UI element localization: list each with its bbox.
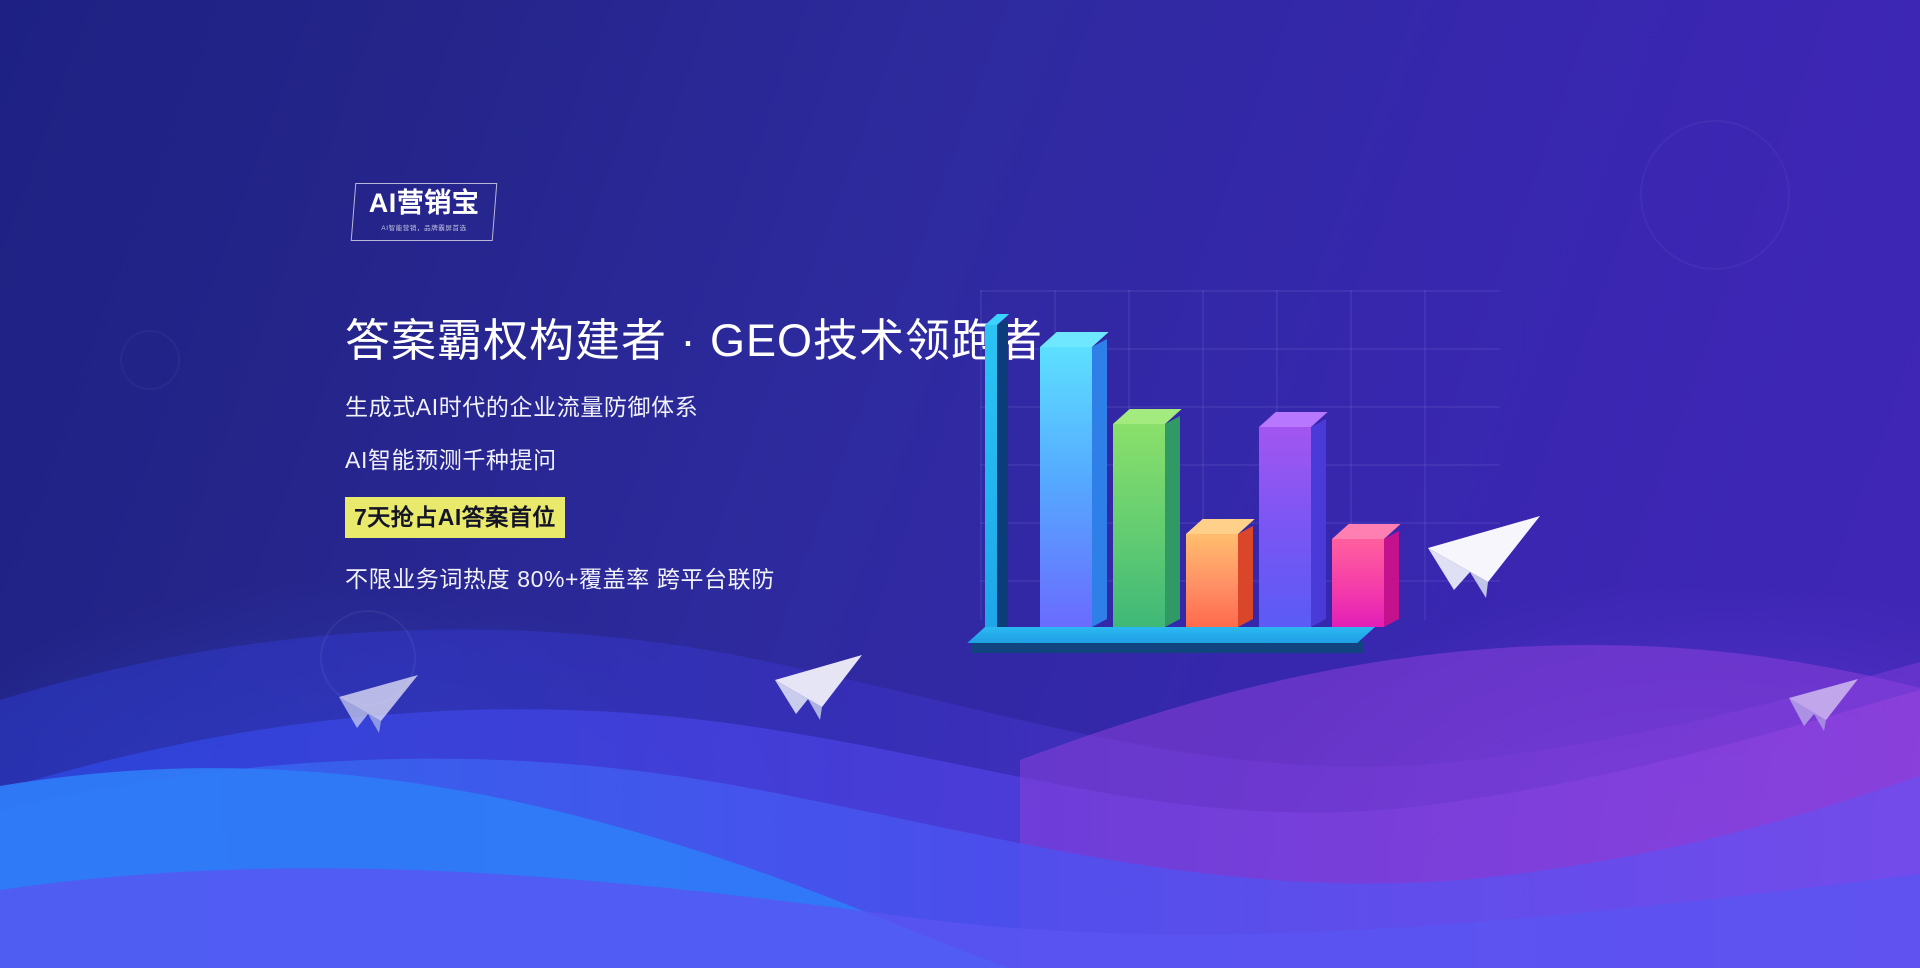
brand-logo[interactable]: AI营销宝 AI智能营销，品牌霸屏首选 (353, 183, 495, 241)
hero-subtitle-2: AI智能预测千种提问 (345, 445, 1065, 475)
hero-banner: AI营销宝 AI智能营销，品牌霸屏首选 答案霸权构建者 · GEO技术领跑者 生… (0, 0, 1920, 968)
hero-highlight-badge: 7天抢占AI答案首位 (345, 497, 565, 538)
paper-plane-icon (772, 652, 866, 724)
chart-y-axis (985, 325, 997, 637)
paper-plane-icon (1786, 676, 1862, 734)
chart-bar (1113, 424, 1165, 627)
bar-chart-3d (985, 298, 1445, 663)
chart-bar (1040, 347, 1092, 627)
decorative-circle (1640, 120, 1790, 270)
decorative-circle (120, 330, 180, 390)
hero-copy: 答案霸权构建者 · GEO技术领跑者 生成式AI时代的企业流量防御体系 AI智能… (345, 312, 1065, 594)
logo-text: AI营销宝 (353, 188, 495, 218)
page-title: 答案霸权构建者 · GEO技术领跑者 (345, 312, 1065, 370)
chart-bar (1332, 539, 1384, 627)
hero-subtitle-1: 生成式AI时代的企业流量防御体系 (345, 392, 1065, 422)
chart-bar (1259, 427, 1311, 627)
chart-base-platform (985, 627, 1375, 643)
chart-bar (1186, 534, 1238, 627)
logo-subtitle: AI智能营销，品牌霸屏首选 (353, 222, 495, 232)
paper-plane-icon (1424, 512, 1544, 604)
paper-plane-icon (336, 672, 422, 736)
hero-highlight-row: 7天抢占AI答案首位 (345, 497, 1065, 538)
hero-subtitle-3: 不限业务词热度 80%+覆盖率 跨平台联防 (345, 564, 1065, 594)
